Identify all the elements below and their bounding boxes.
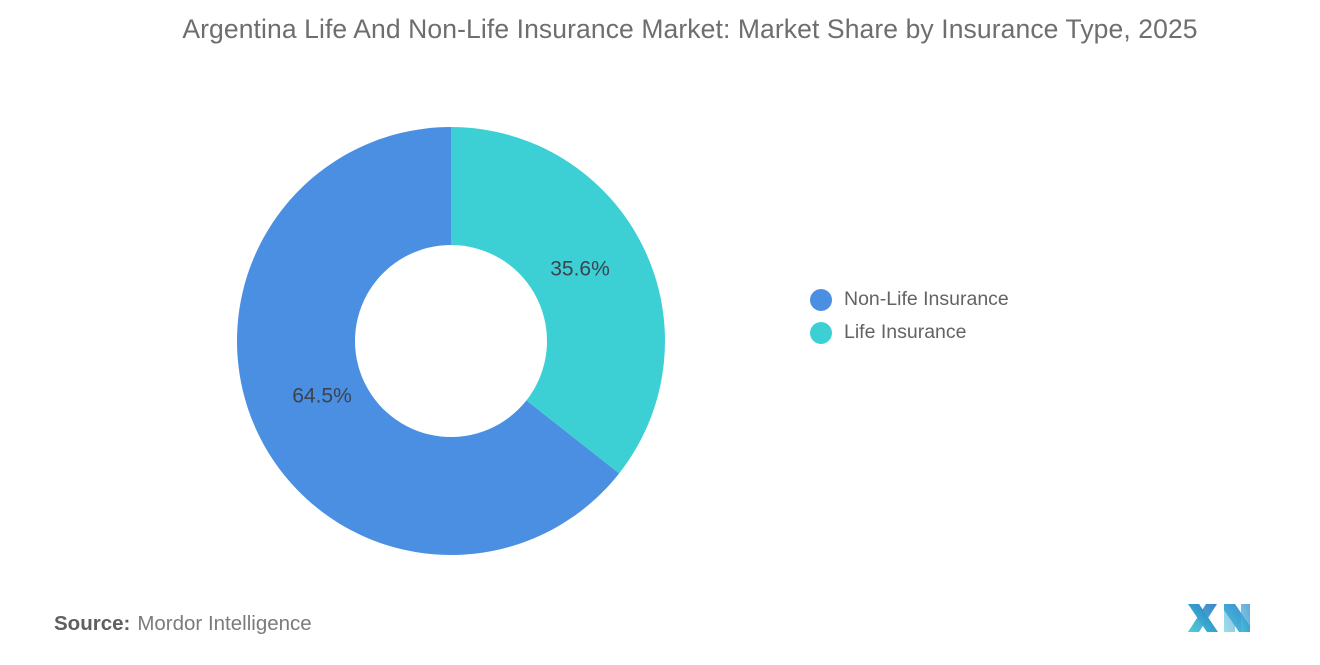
donut-slice-life-insurance[interactable]: [451, 127, 665, 473]
legend-item-non-life-insurance[interactable]: Non-Life Insurance: [810, 283, 1130, 316]
legend-item-life-insurance[interactable]: Life Insurance: [810, 316, 1130, 349]
source-label: Source:: [54, 612, 130, 635]
donut-chart-svg: 35.6% 64.5%: [236, 120, 666, 562]
source-line: Source:Mordor Intelligence: [54, 612, 312, 636]
slice-label-life-insurance: 35.6%: [550, 258, 610, 281]
legend-label-non-life-insurance: Non-Life Insurance: [844, 288, 1009, 311]
mordor-intelligence-logo-icon: [1186, 600, 1252, 636]
source-value: Mordor Intelligence: [137, 612, 311, 635]
legend-label-life-insurance: Life Insurance: [844, 321, 967, 344]
legend-color-swatch-non-life-insurance: [810, 289, 832, 311]
chart-title: Argentina Life And Non-Life Insurance Ma…: [160, 10, 1220, 48]
donut-chart: 35.6% 64.5%: [236, 120, 666, 562]
slice-label-non-life-insurance: 64.5%: [292, 385, 352, 408]
legend-color-swatch-life-insurance: [810, 322, 832, 344]
chart-legend: Non-Life Insurance Life Insurance: [810, 283, 1130, 349]
logo-mark: [1186, 600, 1252, 636]
